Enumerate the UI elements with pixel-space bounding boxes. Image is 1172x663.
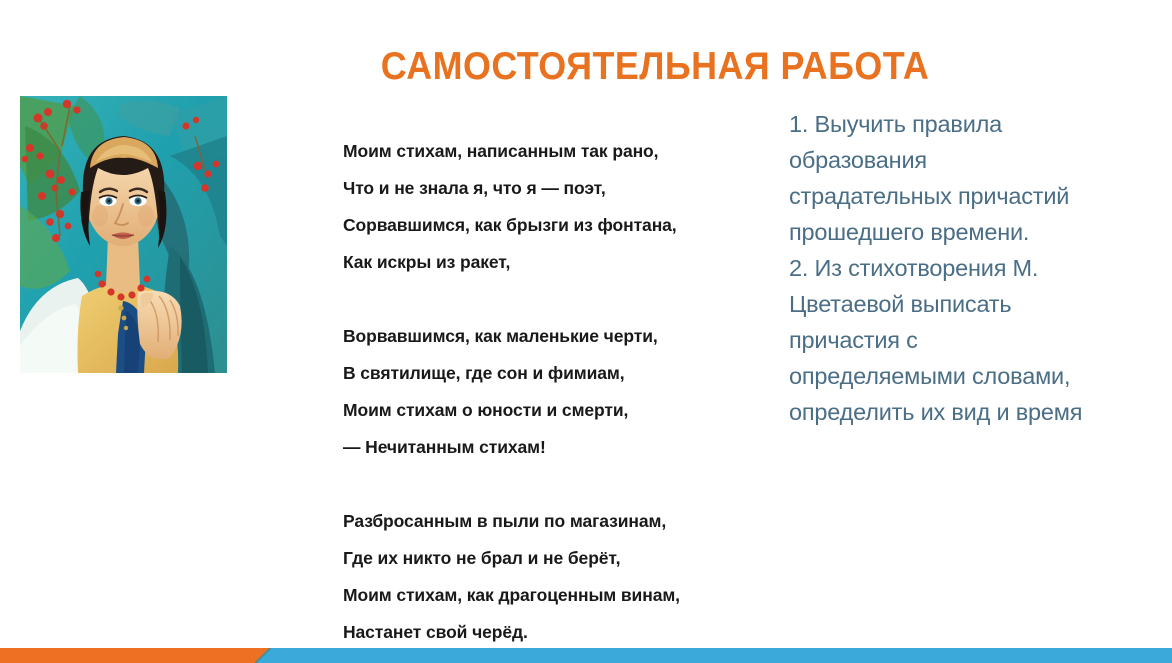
footer-decoration (0, 648, 1172, 663)
footer-bar-blue (262, 648, 1172, 663)
assignment-line: страдательных причастий (789, 178, 1172, 214)
assignment-line: 2. Из стихотворения М. (789, 250, 1172, 286)
presentation-slide: САМОСТОЯТЕЛЬНАЯ РАБОТА (0, 0, 1172, 663)
poem-line: Моим стихам о юности и смерти, (343, 392, 743, 429)
poem-text: Моим стихам, написанным так рано, Что и … (343, 133, 743, 651)
poem-line: В святилище, где сон и фимиам, (343, 355, 743, 392)
poem-line: Где их никто не брал и не берёт, (343, 540, 743, 577)
poem-line: Что и не знала я, что я — поэт, (343, 170, 743, 207)
poem-line: — Нечитанным стихам! (343, 429, 743, 466)
assignment-line: определяемыми словами, (789, 358, 1172, 394)
poem-line: Моим стихам, как драгоценным винам, (343, 577, 743, 614)
footer-bar-orange (0, 648, 262, 663)
poem-line: Разбросанным в пыли по магазинам, (343, 503, 743, 540)
poem-line: Настанет свой черёд. (343, 614, 743, 651)
assignment-line: Цветаевой выписать (789, 286, 1172, 322)
poem-line: Как искры из ракет, (343, 244, 743, 281)
assignment-line: определить их вид и время (789, 394, 1172, 430)
poem-line: Сорвавшимся, как брызги из фонтана, (343, 207, 743, 244)
assignment-line: 1. Выучить правила (789, 106, 1172, 142)
assignment-line: причастия с (789, 322, 1172, 358)
poem-line: Ворвавшимся, как маленькие черти, (343, 318, 743, 355)
poem-stanza-gap (343, 466, 743, 503)
assignment-list: 1. Выучить правила образования страдател… (789, 106, 1172, 430)
poem-line: Моим стихам, написанным так рано, (343, 133, 743, 170)
poem-stanza-gap (343, 281, 743, 318)
portrait-painting-icon (20, 96, 227, 373)
assignment-line: прошедшего времени. (789, 214, 1172, 250)
footer-bar-joint (255, 648, 271, 663)
portrait-image (20, 96, 227, 373)
page-title: САМОСТОЯТЕЛЬНАЯ РАБОТА (282, 44, 1027, 90)
assignment-line: образования (789, 142, 1172, 178)
